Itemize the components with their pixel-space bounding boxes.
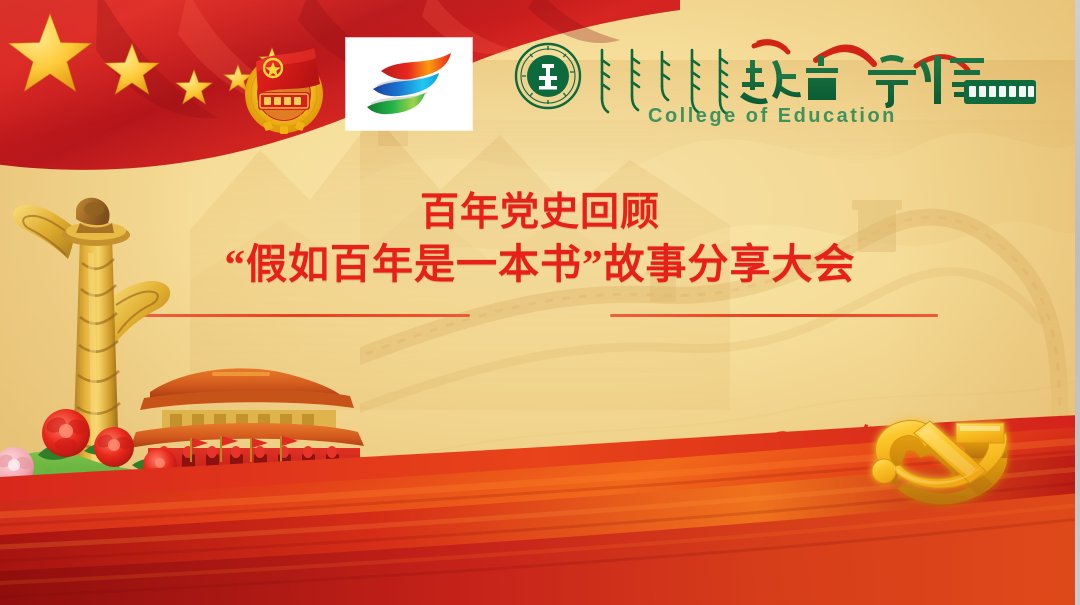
college-english-name: College of Education [648, 105, 897, 127]
tin-ka-ping-badge [964, 80, 1036, 104]
mongolian-script [602, 50, 727, 113]
communist-youth-league-emblem [236, 32, 332, 136]
logo-row: College of Education [236, 30, 1036, 138]
university-seal-icon [516, 44, 580, 108]
rainbow-ribbon-logo [355, 45, 463, 123]
poster-canvas: College of Education 百 [0, 0, 1080, 605]
college-of-education-logo: College of Education [506, 30, 1036, 139]
rainbow-ribbon-logo-card [346, 38, 472, 130]
chinese-college-name [740, 55, 984, 108]
divider-rule-right [610, 314, 938, 317]
right-edge-strip [1075, 0, 1080, 605]
hammer-and-sickle-emblem [856, 409, 1046, 539]
